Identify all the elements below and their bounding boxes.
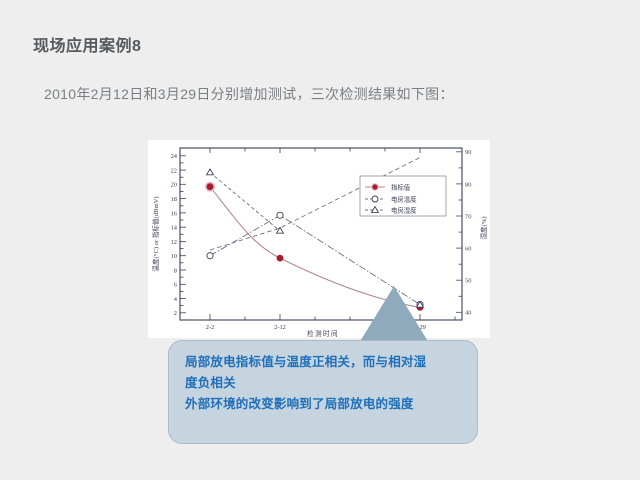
svg-text:80: 80 — [465, 181, 471, 188]
callout-box: 局部放电指标值与温度正相关，而与相对湿 度负相关 外部环境的改变影响到了局部放电… — [168, 340, 478, 444]
callout-line-2: 度负相关 — [185, 373, 461, 394]
svg-text:14: 14 — [171, 225, 178, 232]
y-axis-left-title: 温度(°C) or 指标值(dBmV) — [151, 196, 160, 271]
svg-text:22: 22 — [171, 168, 177, 175]
svg-text:20: 20 — [171, 182, 177, 189]
svg-text:70: 70 — [465, 213, 471, 220]
svg-text:50: 50 — [465, 278, 471, 285]
legend-label-temperature: 电房温度 — [391, 194, 417, 203]
svg-text:12: 12 — [171, 239, 177, 246]
page-title: 现场应用案例8 — [33, 32, 141, 56]
svg-text:10: 10 — [171, 253, 177, 260]
chart-legend: 指标值 电房温度 电房湿度 — [360, 176, 446, 216]
callout-line-1: 局部放电指标值与温度正相关，而与相对湿 — [185, 352, 461, 373]
legend-label-indicator: 指标值 — [391, 182, 411, 191]
callout-line-3: 外部环境的改变影响到了局部放电的强度 — [185, 394, 461, 415]
svg-text:16: 16 — [171, 210, 177, 217]
callout-pointer — [356, 286, 432, 348]
slide-canvas: 现场应用案例8 2010年2月12日和3月29日分别增加测试，三次检测结果如下图… — [0, 0, 640, 480]
svg-text:90: 90 — [465, 149, 471, 156]
svg-text:60: 60 — [465, 246, 471, 253]
slide-subtitle: 2010年2月12日和3月29日分别增加测试，三次检测结果如下图： — [44, 84, 454, 104]
svg-text:8: 8 — [174, 267, 177, 274]
svg-text:18: 18 — [171, 196, 177, 203]
svg-text:24: 24 — [171, 153, 178, 160]
callout: 局部放电指标值与温度正相关，而与相对湿 度负相关 外部环境的改变影响到了局部放电… — [168, 286, 478, 446]
legend-marker-indicator — [372, 184, 378, 190]
legend-marker-temperature — [372, 196, 378, 202]
y-axis-right-title: 湿度(%) — [479, 216, 488, 239]
legend-label-humidity: 电房湿度 — [391, 205, 417, 214]
